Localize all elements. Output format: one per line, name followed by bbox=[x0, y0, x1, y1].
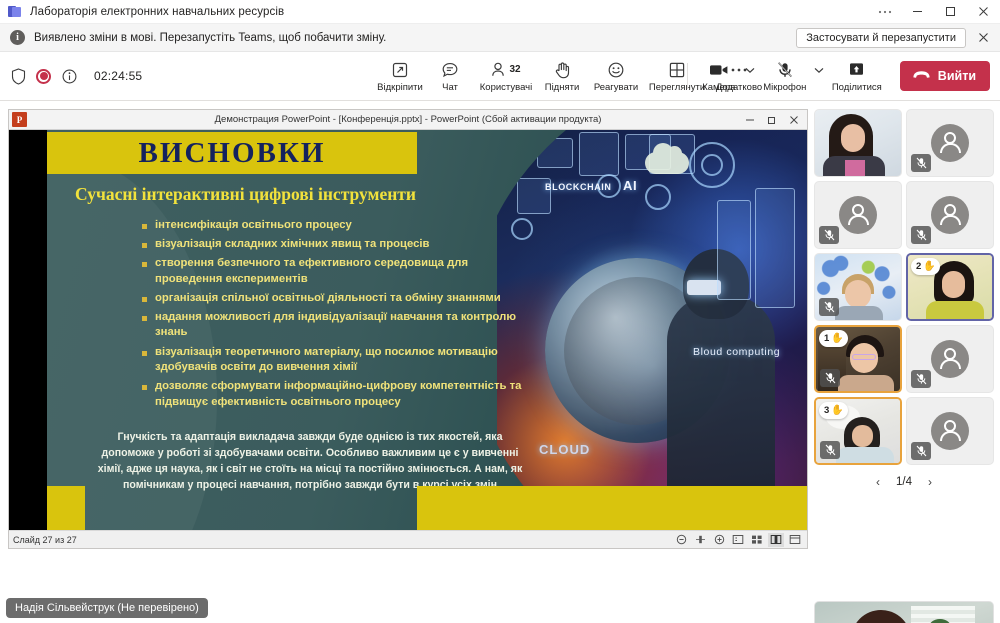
info-icon: i bbox=[10, 30, 25, 45]
bullet-item: надання можливості для індивідуалізації … bbox=[142, 310, 522, 341]
record-icon[interactable] bbox=[36, 69, 51, 84]
participants-label: Користувачі bbox=[480, 82, 532, 93]
participant-count: 32 bbox=[509, 64, 520, 75]
meeting-stage: P Демонстрация PowerPoint - [Конференція… bbox=[0, 101, 1000, 623]
slide-counter: Слайд 27 из 27 bbox=[13, 535, 77, 545]
camera-button[interactable]: Камера bbox=[695, 58, 743, 95]
hand-order-number: 2 bbox=[916, 261, 921, 272]
participant-tile[interactable] bbox=[814, 109, 902, 177]
avatar bbox=[931, 124, 969, 162]
share-label: Поділитися bbox=[832, 82, 882, 93]
hand-order-number: 1 bbox=[824, 333, 829, 344]
participant-tile-hand-raised[interactable]: 1 ✋ bbox=[814, 325, 902, 393]
slide-title-banner: ВИСНОВКИ bbox=[47, 132, 417, 174]
presenter-name-label: Надія Сільвейструк (Не перевірено) bbox=[6, 598, 208, 618]
camera-label: Камера bbox=[702, 82, 735, 93]
label-cloud: CLOUD bbox=[539, 442, 590, 457]
chat-label: Чат bbox=[442, 82, 458, 93]
camera-options-chevron-down-icon[interactable] bbox=[744, 67, 757, 86]
participant-tile[interactable] bbox=[906, 397, 994, 465]
bullet-text: надання можливості для індивідуалізації … bbox=[155, 310, 522, 341]
slide-title: ВИСНОВКИ bbox=[139, 137, 326, 170]
participant-tile[interactable] bbox=[814, 253, 902, 321]
slide-bullet-list: інтенсифікація освітнього процесу візуал… bbox=[142, 218, 522, 414]
share-screen-icon bbox=[848, 60, 865, 80]
active-speaker-tile[interactable] bbox=[814, 601, 994, 623]
avatar bbox=[839, 196, 877, 234]
meeting-timer: 02:24:55 bbox=[94, 69, 142, 83]
avatar bbox=[931, 412, 969, 450]
reactions-label: Реагувати bbox=[594, 82, 638, 93]
unpin-icon bbox=[391, 60, 409, 80]
microphone-label: Мікрофон bbox=[763, 82, 806, 93]
window-more-button[interactable] bbox=[868, 0, 901, 24]
window-title-bar: Лабораторія електронних навчальних ресур… bbox=[0, 0, 1000, 24]
normal-view-icon[interactable] bbox=[787, 533, 803, 547]
microphone-muted-icon bbox=[911, 370, 931, 388]
raised-hand-badge: 3 ✋ bbox=[819, 402, 848, 419]
raise-hand-icon: ✋ bbox=[831, 333, 843, 344]
bullet-item: візуалізація теоретичного матеріалу, що … bbox=[142, 345, 522, 376]
notification-close-icon[interactable] bbox=[972, 27, 994, 49]
zoom-slider-icon[interactable] bbox=[692, 533, 708, 547]
participant-tile-grid: 2 ✋ 1 ✋ bbox=[814, 109, 994, 465]
raise-hand-icon: ✋ bbox=[923, 261, 935, 272]
raised-hand-badge: 1 ✋ bbox=[819, 330, 848, 347]
close-button[interactable] bbox=[967, 0, 1000, 24]
microphone-muted-icon bbox=[819, 226, 839, 244]
microphone-muted-icon bbox=[819, 298, 839, 316]
bullet-marker-icon bbox=[142, 243, 147, 248]
microphone-muted-icon bbox=[820, 369, 840, 387]
meeting-toolbar: 02:24:55 Відкріпити bbox=[0, 52, 1000, 101]
cloud-graphic bbox=[645, 152, 689, 174]
bullet-text: дозволяє сформувати інформаційно-цифрову… bbox=[155, 379, 522, 410]
share-screen-button[interactable]: Поділитися bbox=[827, 58, 887, 95]
unpin-button[interactable]: Відкріпити bbox=[376, 58, 424, 95]
label-blockchain: BLOCKCHAIN bbox=[545, 182, 612, 192]
bullet-marker-icon bbox=[142, 351, 147, 356]
bullet-item: дозволяє сформувати інформаційно-цифрову… bbox=[142, 379, 522, 410]
vr-headset-graphic bbox=[687, 280, 721, 295]
slide-paragraph: Гнучкість та адаптація викладача завжди … bbox=[95, 430, 525, 494]
bullet-item: організація спільної освітньої діяльност… bbox=[142, 291, 522, 307]
bullet-text: організація спільної освітньої діяльност… bbox=[155, 291, 501, 307]
page-indicator: 1/4 bbox=[896, 476, 912, 488]
raise-hand-label: Підняти bbox=[545, 82, 580, 93]
zoom-out-icon[interactable] bbox=[673, 533, 689, 547]
raise-hand-button[interactable]: Підняти bbox=[538, 58, 586, 95]
participants-button[interactable]: 32 Користувачі bbox=[476, 58, 536, 95]
avatar bbox=[931, 340, 969, 378]
teams-logo-icon bbox=[8, 5, 22, 19]
chat-icon bbox=[441, 60, 459, 80]
participant-tile[interactable] bbox=[906, 325, 994, 393]
bullet-text: створення безпечного та ефективного сере… bbox=[155, 256, 522, 287]
microphone-button[interactable]: Мікрофон bbox=[758, 58, 812, 95]
toolbar-divider bbox=[687, 63, 688, 89]
bullet-marker-icon bbox=[142, 297, 147, 302]
participant-tile-active-speaker[interactable]: 2 ✋ bbox=[906, 253, 994, 321]
people-icon: 32 bbox=[491, 60, 520, 80]
bullet-text: інтенсифікація освітнього процесу bbox=[155, 218, 352, 234]
participant-tile[interactable] bbox=[906, 109, 994, 177]
hand-order-number: 3 bbox=[824, 405, 829, 416]
raised-hand-badge: 2 ✋ bbox=[911, 258, 940, 275]
shared-screen-content[interactable]: P Демонстрация PowerPoint - [Конференція… bbox=[8, 109, 808, 549]
bullet-item: створення безпечного та ефективного сере… bbox=[142, 256, 522, 287]
bullet-marker-icon bbox=[142, 385, 147, 390]
leave-label: Вийти bbox=[938, 69, 976, 83]
previous-page-button[interactable]: ‹ bbox=[870, 474, 886, 490]
reactions-button[interactable]: Реагувати bbox=[588, 58, 644, 95]
raise-hand-icon bbox=[554, 60, 571, 80]
maximize-button[interactable] bbox=[934, 0, 967, 24]
bullet-marker-icon bbox=[142, 262, 147, 267]
powerpoint-status-bar: Слайд 27 из 27 bbox=[9, 530, 807, 548]
presentation-slide: BLOCKCHAIN AI Bloud computing CLOUD ВИСН… bbox=[9, 130, 807, 530]
roster-pagination: ‹ 1/4 › bbox=[814, 470, 994, 494]
teams-meeting-window: Лабораторія електронних навчальних ресур… bbox=[0, 0, 1000, 623]
minimize-button[interactable] bbox=[901, 0, 934, 24]
bullet-marker-icon bbox=[142, 316, 147, 321]
apply-and-restart-button[interactable]: Застосувати й перезапустити bbox=[796, 28, 966, 48]
bullet-item: інтенсифікація освітнього процесу bbox=[142, 218, 522, 234]
fit-slide-icon[interactable] bbox=[730, 533, 746, 547]
participant-tile-hand-raised[interactable]: 3 ✋ bbox=[814, 397, 902, 465]
reactions-icon bbox=[607, 60, 625, 80]
label-cloud-computing: Bloud computing bbox=[693, 346, 780, 358]
unpin-label: Відкріпити bbox=[377, 82, 423, 93]
camera-icon bbox=[709, 60, 729, 80]
hangup-icon bbox=[912, 69, 931, 83]
window-title: Лабораторія електронних навчальних ресур… bbox=[30, 6, 284, 18]
avatar bbox=[931, 196, 969, 234]
reading-view-icon[interactable] bbox=[768, 533, 784, 547]
bullet-text: візуалізація складних хімічних явищ та п… bbox=[155, 237, 429, 253]
slide-illustration: BLOCKCHAIN AI Bloud computing CLOUD bbox=[497, 130, 807, 530]
language-change-notification: i Виявлено зміни в мові. Перезапустіть T… bbox=[0, 24, 1000, 52]
participant-tile[interactable] bbox=[906, 181, 994, 249]
microphone-muted-icon bbox=[911, 154, 931, 172]
shield-icon[interactable] bbox=[9, 67, 27, 85]
bullet-item: візуалізація складних хімічних явищ та п… bbox=[142, 237, 522, 253]
slide-left-accent bbox=[47, 486, 85, 530]
notification-message: Виявлено зміни в мові. Перезапустіть Tea… bbox=[34, 32, 386, 44]
participant-tile[interactable] bbox=[814, 181, 902, 249]
powerpoint-window-title: Демонстрация PowerPoint - [Конференція.p… bbox=[9, 114, 807, 125]
next-page-button[interactable]: › bbox=[922, 474, 938, 490]
slide-footer-band bbox=[417, 486, 807, 530]
chat-button[interactable]: Чат bbox=[426, 58, 474, 95]
microphone-muted-icon bbox=[776, 60, 794, 80]
info-icon[interactable] bbox=[60, 67, 78, 85]
raise-hand-icon: ✋ bbox=[831, 405, 843, 416]
ppt-restore-button[interactable] bbox=[761, 111, 783, 129]
slide-subtitle: Сучасні інтерактивні цифрові інструменти bbox=[75, 184, 416, 205]
microphone-muted-icon bbox=[820, 441, 840, 459]
microphone-options-chevron-down-icon[interactable] bbox=[813, 67, 826, 86]
slide-sorter-icon[interactable] bbox=[749, 533, 765, 547]
participant-roster: 2 ✋ 1 ✋ bbox=[814, 109, 994, 494]
ppt-close-button[interactable] bbox=[783, 111, 805, 129]
zoom-in-icon[interactable] bbox=[711, 533, 727, 547]
bullet-text: візуалізація теоретичного матеріалу, що … bbox=[155, 345, 522, 376]
powerpoint-title-bar: P Демонстрация PowerPoint - [Конференція… bbox=[9, 110, 807, 130]
ppt-minimize-button[interactable] bbox=[739, 111, 761, 129]
bullet-marker-icon bbox=[142, 224, 147, 229]
microphone-muted-icon bbox=[911, 442, 931, 460]
leave-meeting-button[interactable]: Вийти bbox=[900, 61, 990, 91]
label-ai: AI bbox=[623, 178, 637, 193]
microphone-muted-icon bbox=[911, 226, 931, 244]
